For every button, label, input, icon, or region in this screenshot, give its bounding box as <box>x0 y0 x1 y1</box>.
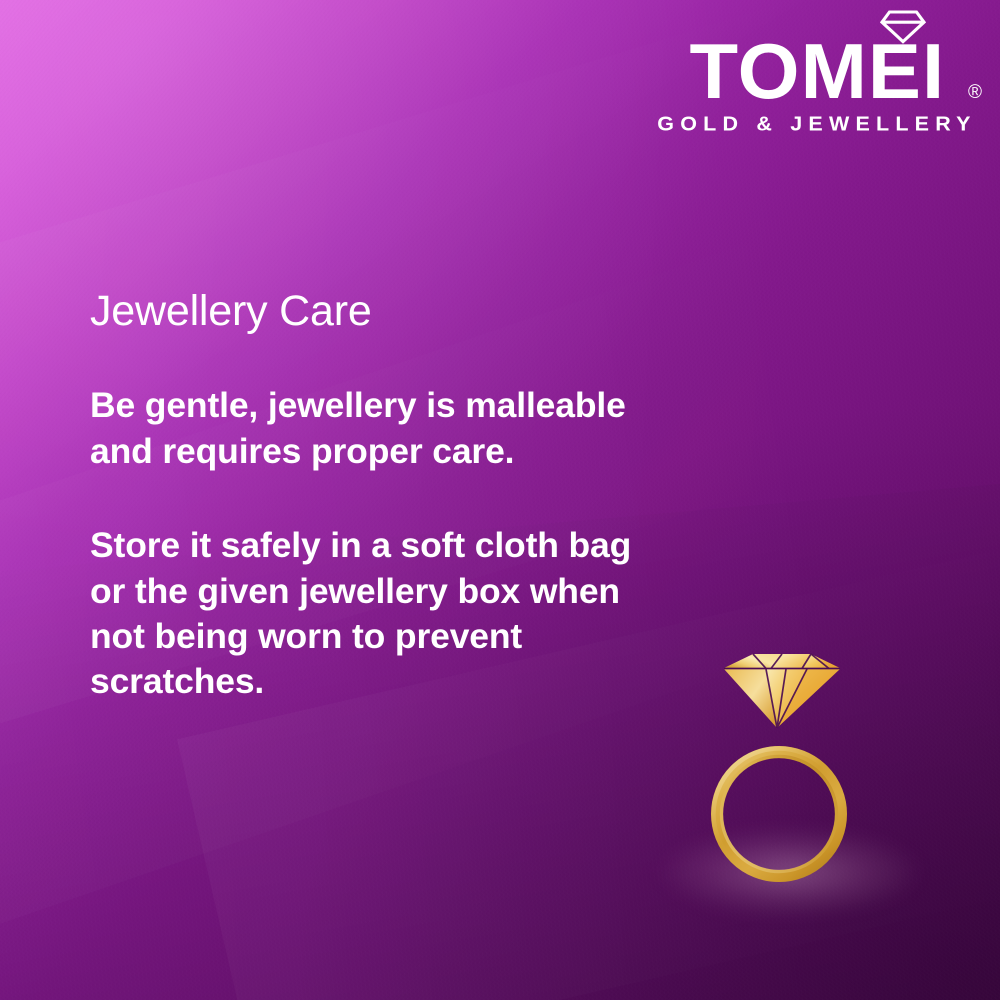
tomei-logo: TOMEI ® GOLD & JEWELLERY <box>652 8 982 137</box>
ring-band-icon <box>714 749 845 880</box>
care-paragraph-2: Store it safely in a soft cloth bag or t… <box>90 523 670 705</box>
care-copy-block: Jewellery Care Be gentle, jewellery is m… <box>90 288 670 705</box>
logo-wordmark-row: TOMEI ® <box>652 8 982 108</box>
logo-wordmark-text: TOMEI <box>689 36 945 108</box>
page-title: Jewellery Care <box>90 288 670 335</box>
diamond-gem-icon <box>724 654 840 728</box>
logo-tagline-text: GOLD & JEWELLERY <box>652 113 982 137</box>
registered-trademark-icon: ® <box>968 83 982 102</box>
ring-graphic <box>690 628 890 928</box>
diamond-ring-illustration <box>690 628 890 928</box>
jewellery-care-poster: TOMEI ® GOLD & JEWELLERY Jewellery Care … <box>0 0 1000 1000</box>
care-paragraph-1: Be gentle, jewellery is malleable and re… <box>90 383 670 474</box>
